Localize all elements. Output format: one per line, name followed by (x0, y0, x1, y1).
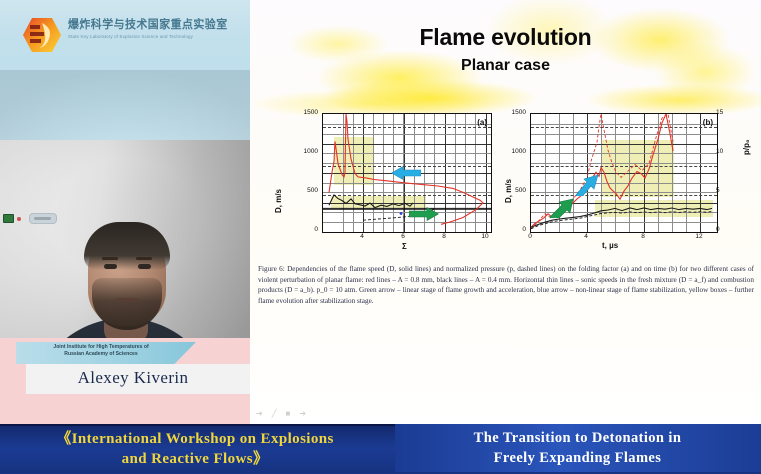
chart-b-ytick-1000: 1000 (502, 148, 526, 155)
slide-navigation-controls[interactable]: ➔ ╱ ■ ➔ (250, 407, 376, 421)
chart-a-ylabel: D, m/s (274, 189, 283, 213)
video-status-badges (3, 214, 21, 223)
lab-logo-panel: 爆炸科学与技术国家重点实验室 State Key Laboratory of E… (0, 0, 250, 70)
chart-a-ytick-500: 500 (294, 187, 318, 194)
presentation-slide[interactable]: Flame evolution Planar case D, m/s 1500 … (250, 0, 761, 424)
chart-a-ytick-1500: 1500 (294, 109, 318, 116)
lab-name-chinese: 爆炸科学与技术国家重点实验室 (68, 18, 235, 32)
chart-b-ytick-right-5: 5 (716, 187, 740, 194)
chart-a-panel-tag: (a) (477, 118, 487, 127)
chart-b-ytick-right-15: 15 (716, 109, 740, 116)
screen: 爆炸科学与技术国家重点实验室 State Key Laboratory of E… (0, 0, 761, 472)
speaker-name-panel: Joint Institute for High Temperatures of… (0, 338, 250, 424)
affiliation-line-1: Joint Institute for High Temperatures of (26, 344, 176, 350)
figure-caption: Figure 6: Dependencies of the flame spee… (258, 264, 754, 306)
video-vignette (0, 70, 250, 338)
chart-a-blue-arrow-icon (391, 166, 421, 180)
chart-a-ytick-1000: 1000 (294, 148, 318, 155)
lab-logo-icon (22, 17, 62, 53)
chart-b-xtick-0: 0 (520, 233, 540, 240)
talk-title-line-1: The Transition to Detonation in (400, 428, 755, 448)
talk-title: The Transition to Detonation in Freely E… (400, 428, 755, 468)
chart-a-xlabel: Σ (402, 242, 407, 251)
figure-6: D, m/s 1500 1000 500 0 (258, 103, 756, 255)
chart-b-green-arrow-icon (549, 198, 574, 218)
slide-subtitle: Planar case (250, 57, 761, 75)
battery-icon (3, 214, 14, 223)
chart-b-plot-area: (b) (530, 113, 718, 233)
chart-b-panel-tag: (b) (703, 118, 713, 127)
chart-b-xtick-4: 4 (576, 233, 596, 240)
chart-b-ytick-0: 0 (502, 226, 526, 233)
left-column: 爆炸科学与技术国家重点实验室 State Key Laboratory of E… (0, 0, 250, 424)
chart-a-xtick-8: 8 (434, 233, 454, 240)
chart-b-xtick-12: 12 (689, 233, 709, 240)
chart-b-ytick-500: 500 (502, 187, 526, 194)
chart-a-xtick-4: 4 (352, 233, 372, 240)
chart-b-xlabel: t, µs (602, 241, 618, 250)
speaker-name: Alexey Kiverin (26, 368, 240, 388)
record-dot-icon (17, 217, 21, 221)
prev-icon[interactable]: ➔ (256, 409, 263, 419)
chart-a-plot-area: (a) (322, 113, 492, 233)
video-toolbar-pill-fill (34, 217, 51, 220)
workshop-title-line-1: 《International Workshop on Explosions (0, 429, 390, 449)
chart-b-ytick-1500: 1500 (502, 109, 526, 116)
talk-title-line-2: Freely Expanding Flames (400, 448, 755, 468)
speaker-video-panel[interactable] (0, 70, 250, 338)
affiliation-line-2: Russian Academy of Sciences (26, 351, 176, 357)
chart-b-ytick-right-10: 10 (716, 148, 740, 155)
chart-a-xtick-10: 10 (475, 233, 495, 240)
chart-panel-a: D, m/s 1500 1000 500 0 (264, 103, 500, 255)
lab-logo-text: 爆炸科学与技术国家重点实验室 State Key Laboratory of E… (68, 18, 244, 39)
video-toolbar-pill[interactable] (29, 213, 57, 224)
chart-b-xtick-8: 8 (633, 233, 653, 240)
slide-title: Flame evolution (250, 24, 761, 51)
next-icon[interactable]: ➔ (299, 409, 306, 419)
chart-b-ytick-right-0: 0 (716, 226, 740, 233)
pen-icon[interactable]: ╱ (272, 409, 277, 419)
chart-a-ytick-0: 0 (294, 226, 318, 233)
workshop-title: 《International Workshop on Explosions an… (0, 429, 390, 469)
chart-b-blue-arrow-icon (575, 174, 599, 196)
lab-name-english: State Key Laboratory of Explosion Scienc… (68, 34, 239, 39)
chart-a-xtick-6: 6 (393, 233, 413, 240)
chart-panel-b: D, m/s 1500 1000 500 0 (506, 103, 750, 255)
workshop-title-line-2: and Reactive Flows》 (0, 449, 390, 469)
stop-icon[interactable]: ■ (286, 409, 291, 419)
chart-a-green-arrow-icon (409, 207, 439, 221)
chart-b-ylabel-right: p/p₀ (742, 139, 751, 155)
